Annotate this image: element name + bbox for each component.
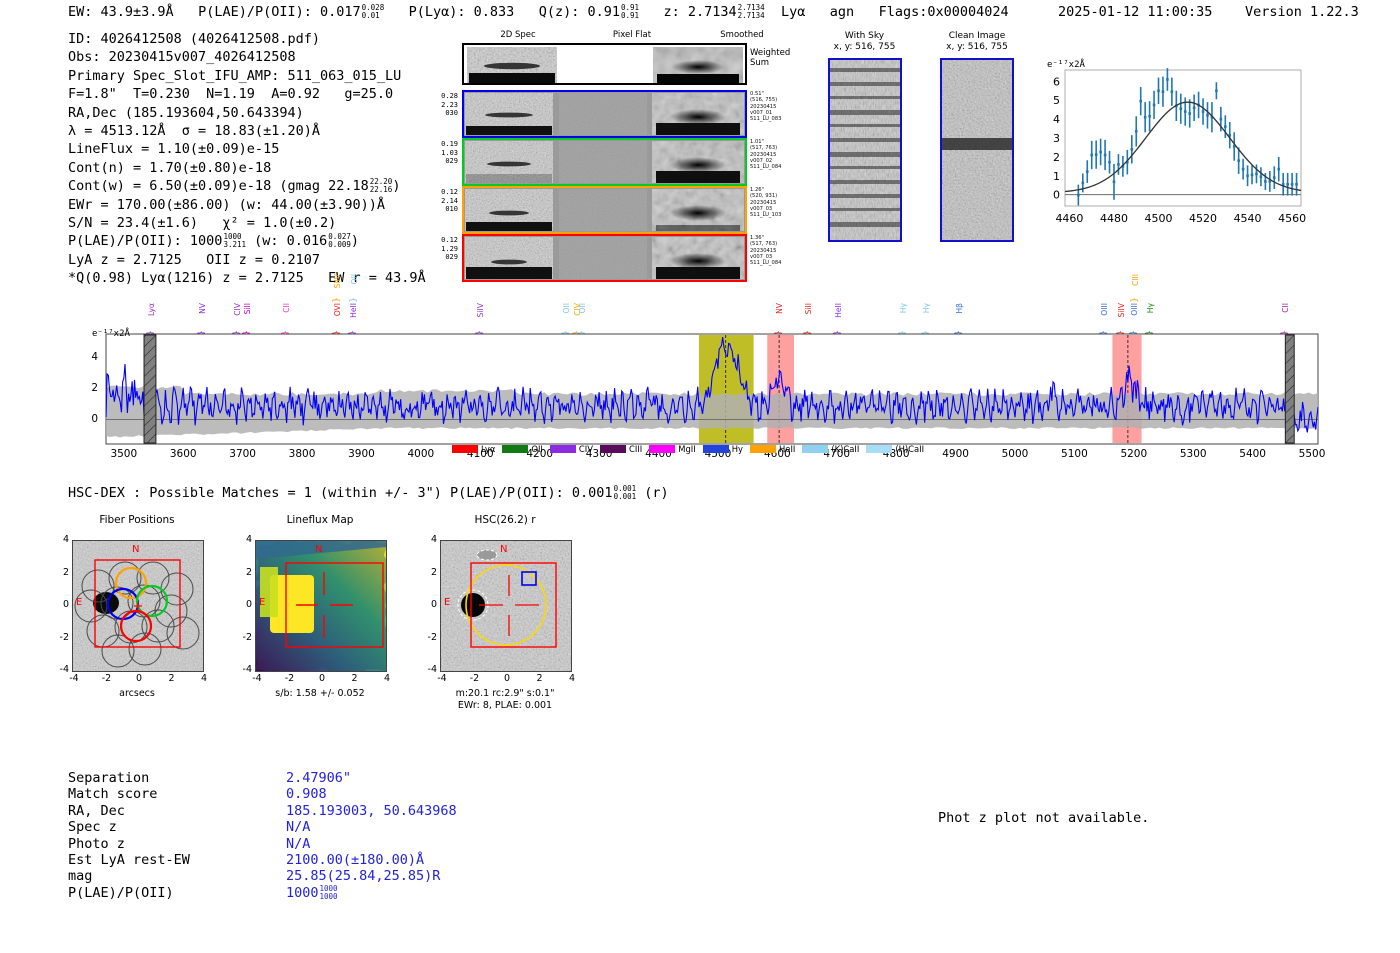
- spectrum-y-tick: 0: [82, 413, 98, 425]
- hscdex-plae-range: 0.0010.001: [614, 485, 637, 501]
- info-seeing-params: F=1.8" T=0.230 N=1.19 A=0.92 g=25.0: [68, 85, 426, 103]
- spectrum-x-tick: 3900: [341, 448, 381, 460]
- header-flags: Flags:0x00004024: [879, 4, 1009, 20]
- match-row-key: Separation: [68, 770, 149, 786]
- legend-swatch: [866, 445, 892, 453]
- header-timestamp-block: 2025-01-12 11:00:35 Version 1.22.3: [1058, 4, 1359, 20]
- legend-label: (H)CaII: [895, 444, 924, 454]
- spec2d-col-title-smoothed: Smoothed: [682, 30, 802, 40]
- spectrum-x-tick: 5300: [1173, 448, 1213, 460]
- match-row-value: 25.85(25.84,25.85)R: [286, 868, 440, 884]
- legend-label: Lyα: [481, 444, 495, 454]
- svg-text:4520: 4520: [1189, 212, 1217, 225]
- spectrum-legend: LyαOIICIVCIIIMgIIHyHeII(K)CaII(H)CaII: [452, 444, 931, 454]
- cutout-caption-line1: s/b: 1.58 +/- 0.052: [225, 688, 415, 700]
- spec2d-fiber-row: [462, 138, 747, 186]
- info-plae-poii: P(LAE)/P(OII): 100010003.211 (w: 0.0160.…: [68, 232, 426, 250]
- header-version: Version 1.22.3: [1245, 4, 1359, 20]
- fiber-metadata-labels: 0.51"(516, 755)20230415v007_01511_LU_083: [750, 91, 810, 122]
- fiber-pixelflat-image: [559, 189, 647, 231]
- legend-swatch: [600, 445, 626, 453]
- spectrum-x-tick: 5000: [995, 448, 1035, 460]
- gfit-yunit: e⁻¹⁷x2Å: [1047, 60, 1085, 70]
- svg-text:0: 0: [1053, 189, 1060, 202]
- spectrum-x-tick: 3800: [282, 448, 322, 460]
- spec2d-fiber-row: [462, 90, 747, 138]
- fiber-pixelflat-image: [559, 141, 647, 183]
- fiber-smoothed-image: [652, 189, 744, 231]
- fiber-2dspec-image: [465, 189, 553, 231]
- info-wavelength: λ = 4513.12Å σ = 18.83(±1.20)Å: [68, 122, 426, 140]
- clean-image-title: Clean Imagex, y: 516, 755: [922, 31, 1032, 53]
- cutout-x-tick: 0: [129, 673, 149, 684]
- compass-east-label: E: [444, 597, 450, 608]
- match-row-value: N/A: [286, 819, 310, 835]
- photoz-message: Phot z plot not available.: [938, 810, 1149, 826]
- legend-swatch: [550, 445, 576, 453]
- spectrum-x-tick: 4900: [936, 448, 976, 460]
- cutout-caption-line1: arcsecs: [42, 688, 232, 700]
- cutout-y-tick: 2: [422, 567, 437, 578]
- emission-line-fit-plot: e⁻¹⁷x2Å 0123456446044804500452045404560: [1035, 58, 1307, 238]
- fiber-2dspec-image: [465, 93, 553, 135]
- svg-text:1: 1: [1053, 170, 1060, 183]
- match-plae-range: 10001000: [320, 885, 338, 901]
- legend-swatch: [750, 445, 776, 453]
- legend-item: CIV: [550, 444, 593, 454]
- gfit-canvas: 0123456446044804500452045404560: [1035, 58, 1307, 238]
- legend-item: CIII: [600, 444, 642, 454]
- svg-text:2: 2: [1053, 151, 1060, 164]
- compass-east-label: E: [259, 597, 265, 608]
- cutout-caption-line1: m:20.1 rc:2.9" s:0.1": [410, 688, 600, 700]
- legend-label: CIII: [629, 444, 642, 454]
- legend-label: Hy: [732, 444, 743, 454]
- match-row-key: Match score: [68, 786, 157, 802]
- info-obs: Obs: 20230415v007_4026412508: [68, 48, 426, 66]
- cutout-x-tick: 0: [497, 673, 517, 684]
- cutout-image[interactable]: [440, 540, 572, 672]
- match-row-key: Spec z: [68, 819, 117, 835]
- spec2d-weighted-sum-row: [462, 43, 747, 85]
- info-snr-chi2: S/N = 23.4(±1.6) χ² = 1.0(±0.2): [68, 214, 426, 232]
- match-row-key: Est LyA rest-EW: [68, 852, 190, 868]
- spectrum-y-tick: 4: [82, 351, 98, 363]
- info-radec: RA,Dec (185.193604,50.643394): [68, 104, 426, 122]
- compass-north-label: N: [132, 544, 139, 555]
- legend-swatch: [703, 445, 729, 453]
- spectrum-x-tick: 3700: [223, 448, 263, 460]
- legend-item: OII: [502, 444, 543, 454]
- weighted-sum-pixelflat-image: [560, 47, 650, 83]
- cutout-x-tick: 0: [312, 673, 332, 684]
- header-z-label: z: 2.7134: [663, 4, 736, 20]
- cutout-x-tick: -2: [280, 673, 300, 684]
- match-row-value: N/A: [286, 836, 310, 852]
- match-row-key: RA, Dec: [68, 803, 125, 819]
- spectrum-x-tick: 5200: [1114, 448, 1154, 460]
- compass-north-label: N: [500, 544, 507, 555]
- cutout-y-tick: 2: [54, 567, 69, 578]
- info-primary-spec: Primary Spec_Slot_IFU_AMP: 511_063_015_L…: [68, 67, 426, 85]
- cutout-y-tick: 4: [237, 534, 252, 545]
- legend-item: HeII: [750, 444, 795, 454]
- legend-label: CIV: [579, 444, 593, 454]
- with-sky-image: [828, 58, 902, 242]
- info-plae-range: 10003.211: [223, 233, 246, 249]
- cutout-caption: arcsecs: [42, 688, 232, 700]
- match-row-value: 2.47906": [286, 770, 351, 786]
- cutout-y-tick: -4: [237, 664, 252, 675]
- svg-text:4480: 4480: [1100, 212, 1128, 225]
- svg-text:4560: 4560: [1278, 212, 1306, 225]
- match-row-key: mag: [68, 868, 92, 884]
- cutout-image[interactable]: [255, 540, 387, 672]
- compass-north-label: N: [315, 544, 322, 555]
- cutout-y-tick: 0: [54, 599, 69, 610]
- info-redshifts: LyA z = 2.7125 OII z = 0.2107: [68, 251, 426, 269]
- info-id: ID: 4026412508 (4026412508.pdf): [68, 30, 426, 48]
- info-cont-w: Cont(w) = 6.50(±0.09)e-18 (gmag 22.1822.…: [68, 177, 426, 195]
- cutout-y-tick: -4: [54, 664, 69, 675]
- weighted-sum-smoothed-image: [653, 47, 743, 83]
- cutout-y-tick: -4: [422, 664, 437, 675]
- match-row-value: 100010001000: [286, 885, 338, 901]
- fiber-smoothed-image: [652, 93, 744, 135]
- spectrum-x-tick: 3600: [163, 448, 203, 460]
- svg-text:4500: 4500: [1145, 212, 1173, 225]
- cutout-y-tick: 0: [237, 599, 252, 610]
- header-z-range: 2.71342.7134: [738, 4, 765, 20]
- legend-item: Hy: [703, 444, 743, 454]
- info-gmag-range: 22.2022.16: [370, 178, 393, 194]
- spec2d-col-title-2dspec: 2D Spec: [458, 30, 578, 40]
- match-row-value: 0.908: [286, 786, 327, 802]
- header-ew: EW: 43.9±3.9Å: [68, 4, 174, 20]
- cutout-caption: s/b: 1.58 +/- 0.052: [225, 688, 415, 700]
- cutout-caption: m:20.1 rc:2.9" s:0.1"EWr: 8, PLAE: 0.001: [410, 688, 600, 712]
- match-row-value: 185.193003, 50.643968: [286, 803, 457, 819]
- legend-item: (K)CaII: [802, 444, 859, 454]
- with-sky-title: With Skyx, y: 516, 755: [812, 31, 917, 53]
- cutout-y-tick: -2: [237, 632, 252, 643]
- svg-text:4460: 4460: [1055, 212, 1083, 225]
- header-timestamp: 2025-01-12 11:00:35: [1058, 4, 1212, 20]
- header-plae-poii-range: 0.0280.01: [362, 4, 385, 20]
- spec2d-col-title-pixelflat: Pixel Flat: [572, 30, 692, 40]
- cutout-y-tick: 4: [422, 534, 437, 545]
- detection-info-block: ID: 4026412508 (4026412508.pdf) Obs: 202…: [68, 30, 426, 288]
- svg-text:5: 5: [1053, 94, 1060, 107]
- cutout-x-tick: 2: [345, 673, 365, 684]
- spectrum-x-tick: 3500: [104, 448, 144, 460]
- legend-label: OII: [531, 444, 543, 454]
- header-qz-range: 0.910.91: [621, 4, 639, 20]
- spectrum-x-tick: 5100: [1054, 448, 1094, 460]
- cutout-y-tick: 4: [54, 534, 69, 545]
- cutout-title: HSC(26.2) r: [415, 514, 595, 526]
- header-agn-flag: agn: [830, 4, 854, 20]
- spectrum-x-tick: 5400: [1233, 448, 1273, 460]
- spectrum-yunit: e⁻¹⁷x2Å: [92, 329, 130, 339]
- svg-text:4540: 4540: [1234, 212, 1262, 225]
- fiber-2dspec-image: [465, 141, 553, 183]
- spectrum-canvas: [80, 272, 1320, 467]
- fiber-weight-labels: 0.121.29029: [418, 236, 458, 262]
- match-row-key: P(LAE)/P(OII): [68, 885, 174, 901]
- info-ewr: EWr = 170.00(±86.00) (w: 44.00(±3.90))Å: [68, 196, 426, 214]
- fiber-metadata-labels: 1.26"(520, 931)20230415v007_03511_LU_103: [750, 187, 810, 218]
- info-plae-w-range: 0.0270.009: [328, 233, 351, 249]
- cutout-x-tick: -2: [465, 673, 485, 684]
- fiber-pixelflat-image: [559, 93, 647, 135]
- weighted-sum-label: Weighted Sum: [750, 48, 790, 68]
- cutout-x-tick: -2: [97, 673, 117, 684]
- cutout-y-tick: -2: [54, 632, 69, 643]
- cutout-y-tick: 2: [237, 567, 252, 578]
- cutout-caption-line2: EWr: 8, PLAE: 0.001: [410, 700, 600, 712]
- legend-swatch: [502, 445, 528, 453]
- svg-text:4: 4: [1053, 113, 1060, 126]
- svg-text:3: 3: [1053, 132, 1060, 145]
- fiber-weight-labels: 0.191.03029: [418, 140, 458, 166]
- legend-label: HeII: [779, 444, 795, 454]
- legend-item: (H)CaII: [866, 444, 924, 454]
- header-classification: Lyα: [781, 4, 805, 20]
- compass-east-label: E: [76, 597, 82, 608]
- weighted-sum-2dspec-image: [467, 47, 557, 83]
- cutout-y-tick: -2: [422, 632, 437, 643]
- cutout-x-tick: 4: [377, 673, 397, 684]
- hscdex-headline: HSC-DEX : Possible Matches = 1 (within +…: [68, 485, 669, 501]
- cutout-x-tick: 2: [530, 673, 550, 684]
- legend-swatch: [802, 445, 828, 453]
- cutout-x-tick: 4: [562, 673, 582, 684]
- legend-label: MgII: [678, 444, 695, 454]
- cutout-x-tick: 4: [194, 673, 214, 684]
- info-lineflux: LineFlux = 1.10(±0.09)e-15: [68, 140, 426, 158]
- legend-item: Lyα: [452, 444, 495, 454]
- fiber-weight-labels: 0.122.14010: [418, 188, 458, 214]
- spectrum-x-tick: 5500: [1292, 448, 1332, 460]
- fiber-weight-labels: 0.282.23030: [418, 92, 458, 118]
- legend-label: (K)CaII: [831, 444, 859, 454]
- header-qz-label: Q(z): 0.91: [539, 4, 620, 20]
- svg-text:6: 6: [1053, 75, 1060, 88]
- spectrum-x-tick: 4000: [401, 448, 441, 460]
- header-plya: P(Lyα): 0.833: [409, 4, 515, 20]
- legend-item: MgII: [649, 444, 695, 454]
- legend-swatch: [452, 445, 478, 453]
- info-cont-n: Cont(n) = 1.70(±0.80)e-18: [68, 159, 426, 177]
- legend-swatch: [649, 445, 675, 453]
- clean-image: [940, 58, 1014, 242]
- header-summary-line: EW: 43.9±3.9Å P(LAE)/P(OII): 0.0170.0280…: [68, 4, 1009, 20]
- fiber-metadata-labels: 1.01"(517, 763)20230415v007_02511_LU_084: [750, 139, 810, 170]
- full-spectrum-plot: Lyα}NV}CIV}SiII}CII}OVI}HeII}SiIV}OII}Si…: [80, 272, 1320, 467]
- fiber-metadata-labels: 1.36"(517, 763)20230415v007_03511_LU_084: [750, 235, 810, 266]
- fiber-smoothed-image: [652, 141, 744, 183]
- cutout-title: Fiber Positions: [47, 514, 227, 526]
- header-plae-poii-label: P(LAE)/P(OII): 0.017: [198, 4, 361, 20]
- cutout-y-tick: 0: [422, 599, 437, 610]
- match-row-key: Photo z: [68, 836, 125, 852]
- cutout-title: Lineflux Map: [230, 514, 410, 526]
- match-row-value: 2100.00(±180.00)Å: [286, 852, 424, 868]
- spec2d-panel: 2D Spec Pixel Flat Smoothed: [420, 30, 800, 255]
- spectrum-y-tick: 2: [82, 382, 98, 394]
- cutout-x-tick: 2: [162, 673, 182, 684]
- spec2d-fiber-row: [462, 186, 747, 234]
- cutout-image[interactable]: [72, 540, 204, 672]
